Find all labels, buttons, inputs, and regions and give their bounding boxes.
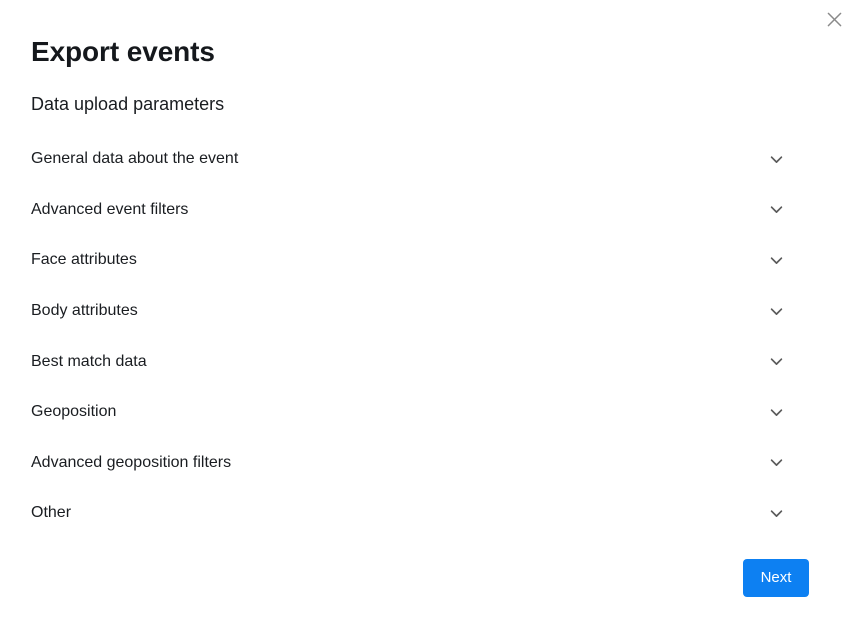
chevron-down-icon[interactable] — [767, 504, 785, 522]
accordion-item-advanced-geoposition-filters[interactable]: Advanced geoposition filters — [0, 438, 847, 489]
accordion-item-face-attributes[interactable]: Face attributes — [0, 235, 847, 286]
accordion-item-label: General data about the event — [31, 149, 238, 169]
chevron-down-icon[interactable] — [767, 201, 785, 219]
chevron-down-icon[interactable] — [767, 454, 785, 472]
accordion-item-label: Body attributes — [31, 301, 138, 321]
accordion-item-label: Advanced event filters — [31, 200, 188, 220]
accordion-item-geoposition[interactable]: Geoposition — [0, 387, 847, 438]
parameters-accordion: General data about the event Advanced ev… — [0, 134, 847, 539]
accordion-item-body-attributes[interactable]: Body attributes — [0, 286, 847, 337]
chevron-down-icon[interactable] — [767, 251, 785, 269]
chevron-down-icon[interactable] — [767, 302, 785, 320]
accordion-item-label: Geoposition — [31, 402, 116, 422]
chevron-down-icon[interactable] — [767, 403, 785, 421]
page-subtitle: Data upload parameters — [31, 92, 224, 116]
dialog-footer: Next — [0, 548, 847, 608]
accordion-item-label: Advanced geoposition filters — [31, 453, 231, 473]
accordion-item-label: Other — [31, 503, 71, 523]
accordion-item-best-match-data[interactable]: Best match data — [0, 336, 847, 387]
page-title: Export events — [31, 34, 215, 70]
export-events-dialog: Export events Data upload parameters Gen… — [0, 0, 847, 631]
accordion-item-other[interactable]: Other — [0, 488, 847, 539]
accordion-item-label: Face attributes — [31, 250, 137, 270]
accordion-item-label: Best match data — [31, 352, 147, 372]
chevron-down-icon[interactable] — [767, 150, 785, 168]
next-button[interactable]: Next — [743, 559, 809, 597]
chevron-down-icon[interactable] — [767, 353, 785, 371]
close-icon[interactable] — [822, 7, 847, 32]
accordion-item-advanced-event-filters[interactable]: Advanced event filters — [0, 185, 847, 236]
accordion-item-general-data-about-the-event[interactable]: General data about the event — [0, 134, 847, 185]
